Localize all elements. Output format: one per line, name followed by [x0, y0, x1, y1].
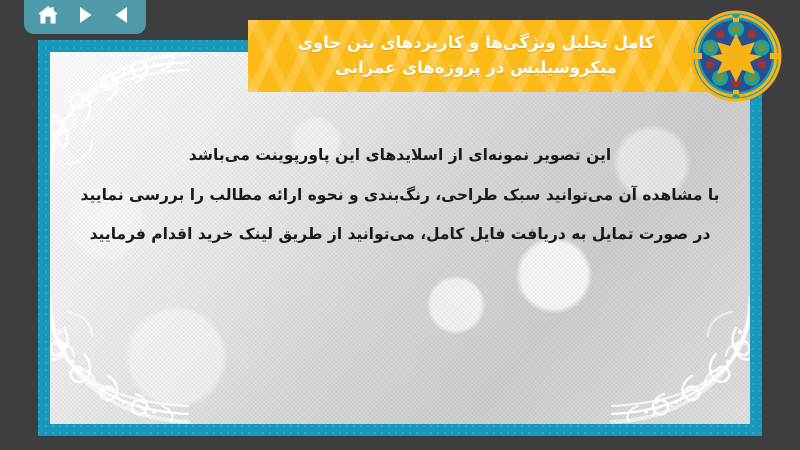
body-line-1: این تصویر نمونه‌ای از اسلایدهای این پاور… [68, 136, 732, 176]
triangle-left-icon [112, 5, 132, 25]
slide-viewer-window: این تصویر نمونه‌ای از اسلایدهای این پاور… [0, 0, 800, 450]
home-icon [37, 5, 59, 25]
next-slide-button[interactable] [70, 1, 100, 29]
triangle-right-icon [75, 5, 95, 25]
title-banner: کامل تحلیل ویژگی‌ها و کاربردهای بتن حاوی… [248, 20, 720, 92]
body-line-3: در صورت تمایل به دریافت فایل کامل، می‌تو… [68, 215, 732, 255]
home-button[interactable] [33, 1, 63, 29]
presentation-slide: این تصویر نمونه‌ای از اسلایدهای این پاور… [38, 40, 762, 436]
slide-title: کامل تحلیل ویژگی‌ها و کاربردهای بتن حاوی… [288, 31, 681, 81]
previous-slide-button[interactable] [107, 1, 137, 29]
persian-medallion-ornament [688, 8, 784, 104]
navigation-bar [24, 0, 146, 34]
body-line-2: با مشاهده آن می‌توانید سبک طراحی، رنگ‌بن… [68, 176, 732, 216]
slide-body-text: این تصویر نمونه‌ای از اسلایدهای این پاور… [50, 136, 750, 255]
slide-title-bar: کامل تحلیل ویژگی‌ها و کاربردهای بتن حاوی… [248, 20, 748, 92]
